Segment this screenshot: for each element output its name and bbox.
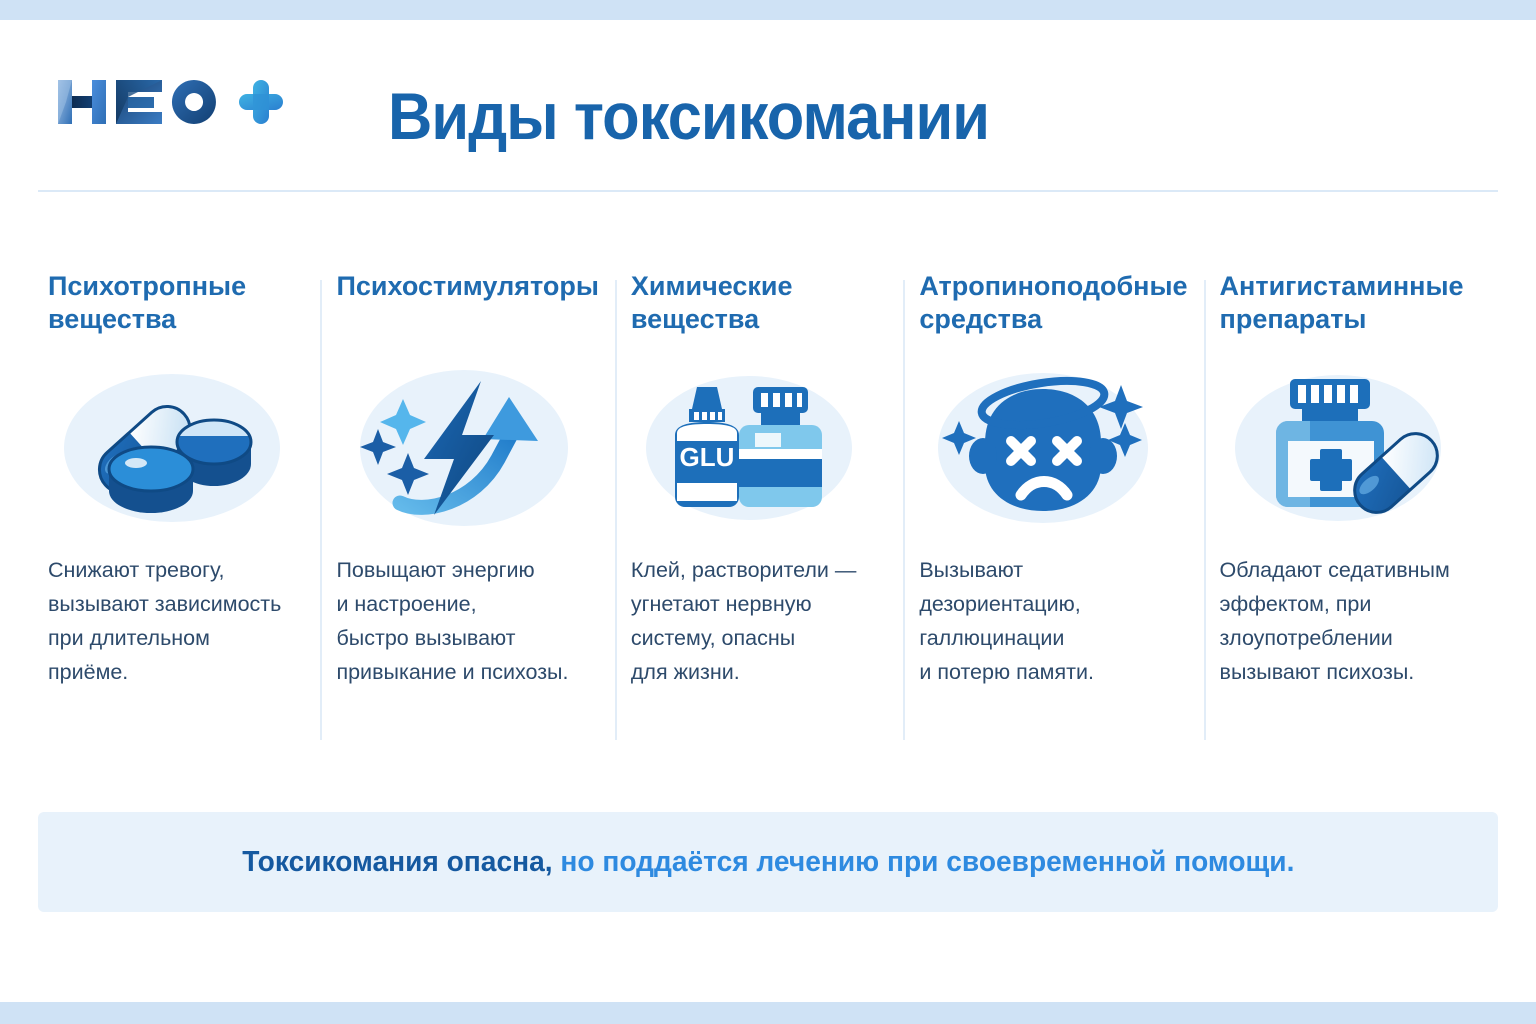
- column-description: Обладают седативным эффектом, при злоупо…: [1220, 554, 1476, 690]
- neo-plus-logo: НЕО+: [46, 66, 286, 138]
- pill-bottle-capsule-icon: [1220, 364, 1476, 532]
- column-title: Атропиноподобные средства: [919, 270, 1187, 342]
- banner-light-text: но поддаётся лечению при своевременной п…: [552, 846, 1294, 878]
- category-columns: Психотропные вещества: [38, 270, 1498, 745]
- header: НЕО+ Виды токсикомании: [0, 20, 1536, 190]
- category-column-antihistamine: Антигистаминные препараты: [1210, 270, 1498, 745]
- lightning-bolt-arrow-icon: [336, 364, 598, 532]
- glue-label: GLU: [679, 442, 734, 472]
- dizzy-face-icon: [919, 364, 1187, 532]
- column-title: Химические вещества: [631, 270, 887, 342]
- banner-strong-text: Токсикомания опасна,: [242, 846, 552, 878]
- column-description: Вызывают дезориентацию, галлюцинации и п…: [919, 554, 1187, 690]
- category-column-atropine: Атропиноподобные средства: [909, 270, 1209, 745]
- pills-capsule-icon: [48, 364, 304, 532]
- column-title: Психостимуляторы: [336, 270, 598, 342]
- category-column-chemical: Химические вещества: [621, 270, 909, 745]
- column-description: Клей, растворители — угнетают нервную си…: [631, 554, 887, 690]
- column-description: Снижают тревогу, вызывают зависимость пр…: [48, 554, 304, 690]
- footer-banner: Токсикомания опасна, но поддаётся лечени…: [38, 812, 1498, 912]
- page-title: Виды токсикомании: [388, 78, 989, 154]
- bottom-decorative-band: [0, 1002, 1536, 1024]
- category-column-stimulants: Психостимуляторы: [326, 270, 620, 745]
- header-divider: [38, 190, 1498, 192]
- column-title: Антигистаминные препараты: [1220, 270, 1476, 342]
- category-column-psychotropic: Психотропные вещества: [38, 270, 326, 745]
- top-decorative-band: [0, 0, 1536, 20]
- glue-solvent-bottles-icon: GLU: [631, 364, 887, 532]
- column-title: Психотропные вещества: [48, 270, 304, 342]
- column-description: Повыщают энергию и настроение, быстро вы…: [336, 554, 598, 690]
- footer-banner-text: Токсикомания опасна, но поддаётся лечени…: [242, 846, 1294, 879]
